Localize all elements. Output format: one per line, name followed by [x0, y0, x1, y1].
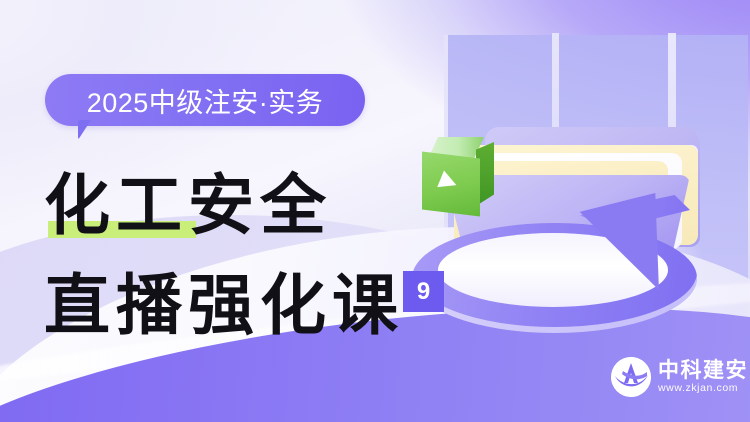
- folder-illustration: [430, 115, 730, 350]
- course-category-badge: 2025中级注安·实务: [45, 74, 365, 126]
- brand-website-url: www.zkjan.com: [658, 383, 748, 394]
- brand-logo: 中科建安 www.zkjan.com: [611, 357, 748, 397]
- brand-logo-text: 中科建安 www.zkjan.com: [658, 360, 748, 394]
- course-banner: 2025中级注安·实务 化工安全 直播强化课 9 中科建安 www.zkjan.…: [0, 0, 750, 422]
- course-title-line-2: 直播强化课: [44, 252, 404, 348]
- course-title-line-1: 化工安全: [44, 152, 332, 248]
- zkjan-circle-logo-icon: [611, 357, 651, 397]
- course-category-label: 2025中级注安·实务: [87, 81, 324, 120]
- badge-tail-icon: [78, 120, 104, 140]
- episode-number-badge: 9: [403, 271, 444, 312]
- episode-number-label: 9: [417, 280, 430, 304]
- brand-name-cn: 中科建安: [658, 360, 748, 381]
- green-cube-icon: [422, 137, 504, 219]
